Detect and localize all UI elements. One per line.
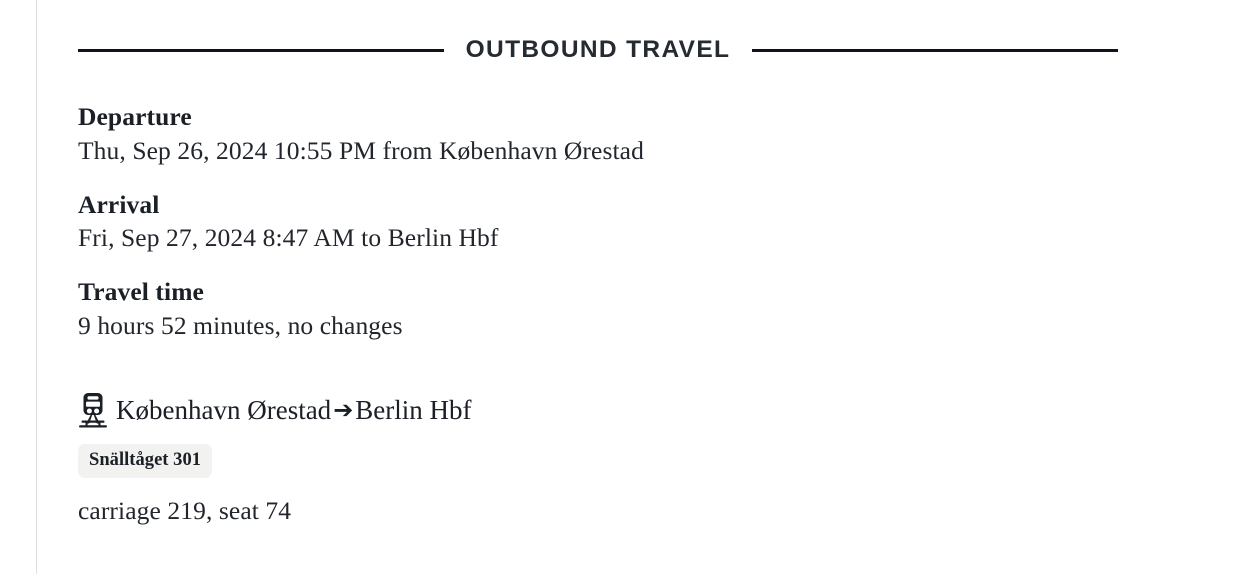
departure-label: Departure xyxy=(78,100,1118,134)
departure-block: Departure Thu, Sep 26, 2024 10:55 PM fro… xyxy=(78,100,1118,169)
train-icon xyxy=(78,392,108,430)
travel-time-block: Travel time 9 hours 52 minutes, no chang… xyxy=(78,275,1118,344)
travel-time-value: 9 hours 52 minutes, no changes xyxy=(78,309,1118,344)
section-rule-right xyxy=(752,49,1118,52)
travel-time-label: Travel time xyxy=(78,275,1118,309)
section-header: OUTBOUND TRAVEL xyxy=(78,0,1118,100)
outbound-travel-panel: OUTBOUND TRAVEL Departure Thu, Sep 26, 2… xyxy=(0,0,1234,574)
section-rule-left xyxy=(78,49,444,52)
leg-route-row: København Ørestad➔Berlin Hbf xyxy=(78,392,1118,430)
arrow-right-icon: ➔ xyxy=(331,396,355,424)
arrival-value: Fri, Sep 27, 2024 8:47 AM to Berlin Hbf xyxy=(78,221,1118,256)
service-badge: Snälltåget 301 xyxy=(78,444,212,478)
leg-destination: Berlin Hbf xyxy=(355,395,471,425)
leg-origin: København Ørestad xyxy=(116,395,331,425)
arrival-block: Arrival Fri, Sep 27, 2024 8:47 AM to Ber… xyxy=(78,188,1118,257)
departure-value: Thu, Sep 26, 2024 10:55 PM from Københav… xyxy=(78,134,1118,169)
left-gutter-divider xyxy=(36,0,37,574)
service-badge-row: Snälltåget 301 xyxy=(78,444,1118,478)
arrival-label: Arrival xyxy=(78,188,1118,222)
leg-route-text: København Ørestad➔Berlin Hbf xyxy=(116,396,472,426)
section-title: OUTBOUND TRAVEL xyxy=(466,38,731,63)
travel-content: OUTBOUND TRAVEL Departure Thu, Sep 26, 2… xyxy=(78,0,1118,527)
seat-info: carriage 219, seat 74 xyxy=(78,494,1118,527)
